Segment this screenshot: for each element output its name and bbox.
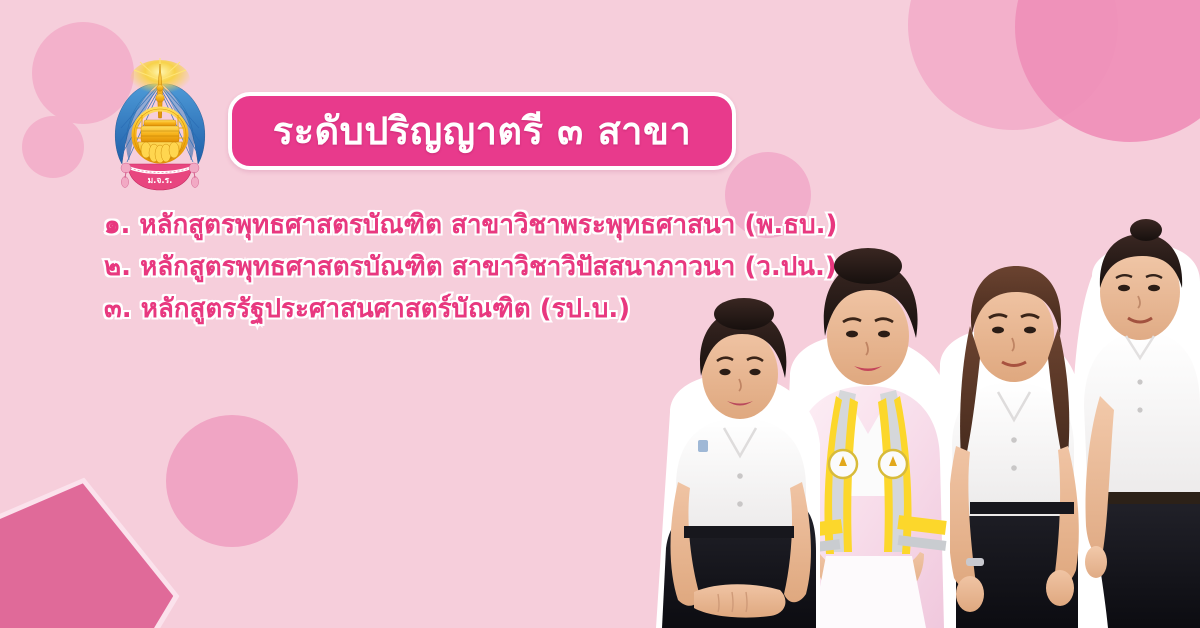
circle-bottom-left-icon <box>166 415 298 547</box>
graduates-group-photo <box>640 196 1200 628</box>
mcu-university-emblem-icon: ม.จ.ร. <box>104 58 216 200</box>
circle-top-right-dark-icon <box>1015 0 1200 142</box>
banner-title-text: ระดับปริญญาตรี ๓ สาขา <box>273 112 692 150</box>
graduate-3-figure <box>928 266 1080 628</box>
graduate-4-figure <box>1072 219 1200 628</box>
poster-canvas: ม.จ.ร. ระดับปริญญาตรี ๓ สาขา ๑. หลักสูตร… <box>0 0 1200 628</box>
emblem-banner-label: ม.จ.ร. <box>148 176 173 186</box>
circle-top-left-small-icon <box>22 116 84 178</box>
graduate-1-figure <box>656 298 820 628</box>
circle-top-right-light-icon <box>908 0 1118 130</box>
pentagon-bottom-left-icon <box>0 456 194 628</box>
title-banner: ระดับปริญญาตรี ๓ สาขา <box>228 92 736 170</box>
